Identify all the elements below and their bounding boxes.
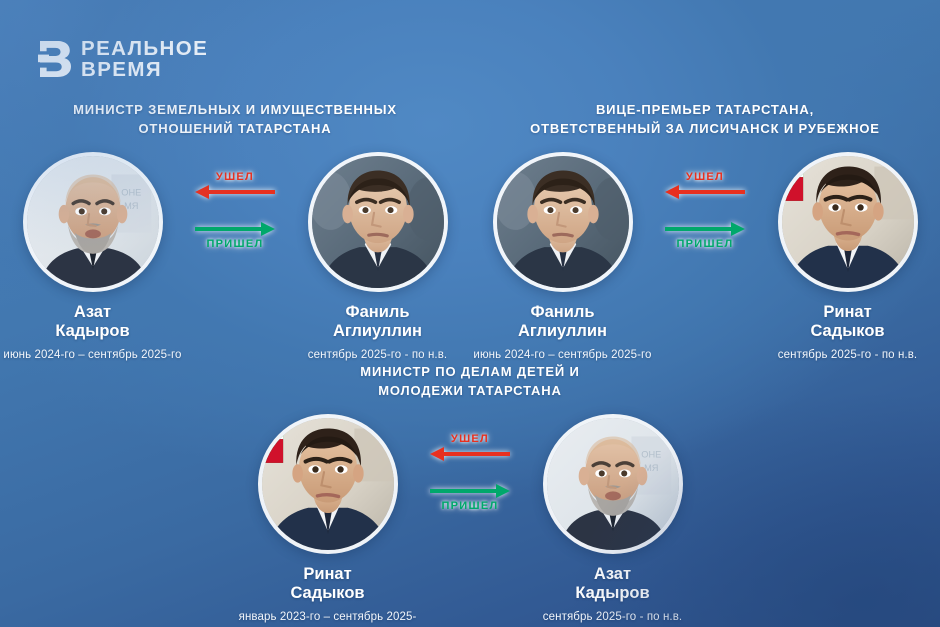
avatar (308, 152, 448, 292)
avatar-photo-fanil-agliullin (312, 156, 444, 288)
arrow-in-label: ПРИШЕЛ (441, 499, 498, 513)
person-name: Ринат Садыков (755, 303, 940, 341)
transition-arrows: УШЕЛ ПРИШЕЛ (185, 152, 285, 251)
person-term: сентябрь 2025-го - по н.в. (285, 348, 470, 362)
person-outgoing: ОНЕ МЯ (0, 152, 185, 362)
avatar-photo-azat-kadyrov: ОНЕ МЯ (27, 156, 159, 288)
arrow-right-icon (428, 483, 512, 499)
person-name: Азат Кадыров (520, 565, 705, 603)
arrow-out-label: УШЕЛ (451, 432, 489, 446)
section-children-youth-minister: МИНИСТР ПО ДЕЛАМ ДЕТЕЙ И МОЛОДЕЖИ ТАТАРС… (235, 362, 705, 627)
svg-text:ОНЕ: ОНЕ (641, 450, 661, 460)
arrow-out: УШЕЛ (193, 170, 277, 200)
person-term: январь 2023-го – сентябрь 2025-го (235, 610, 420, 627)
avatar-photo-azat-kadyrov: ОНЕ МЯ (547, 418, 679, 550)
section-title: ВИЦЕ-ПРЕМЬЕР ТАТАРСТАНА, ОТВЕТСТВЕННЫЙ З… (470, 100, 940, 138)
person-term: сентябрь 2025-го - по н.в. (755, 348, 940, 362)
arrow-in-label: ПРИШЕЛ (206, 237, 263, 251)
section-title: МИНИСТР ПО ДЕЛАМ ДЕТЕЙ И МОЛОДЕЖИ ТАТАРС… (235, 362, 705, 400)
arrow-out: УШЕЛ (663, 170, 747, 200)
person-incoming: ОНЕ МЯ (520, 414, 705, 624)
avatar-photo-rinat-sadykov (262, 418, 394, 550)
arrow-in: ПРИШЕЛ (193, 221, 277, 251)
arrow-left-icon (193, 184, 277, 200)
person-term: июнь 2024-го – сентябрь 2025-го (470, 348, 655, 362)
arrow-out-label: УШЕЛ (686, 170, 724, 184)
transition-arrows: УШЕЛ ПРИШЕЛ (655, 152, 755, 251)
person-incoming: Ринат Садыков сентябрь 2025-го - по н.в. (755, 152, 940, 362)
infographic-canvas: РЕАЛЬНОЕ ВРЕМЯ МИНИСТР ЗЕМЕЛЬНЫХ И ИМУЩЕ… (0, 0, 940, 627)
arrow-out: УШЕЛ (428, 432, 512, 462)
avatar: ОНЕ МЯ (23, 152, 163, 292)
person-name: Фаниль Аглиуллин (470, 303, 655, 341)
arrow-in-label: ПРИШЕЛ (676, 237, 733, 251)
section-vice-premier-lisichansk: ВИЦЕ-ПРЕМЬЕР ТАТАРСТАНА, ОТВЕТСТВЕННЫЙ З… (470, 100, 940, 362)
svg-text:ОНЕ: ОНЕ (121, 188, 141, 198)
person-name: Ринат Садыков (235, 565, 420, 603)
avatar-photo-rinat-sadykov (782, 156, 914, 288)
person-term: сентябрь 2025-го - по н.в. (520, 610, 705, 624)
person-outgoing: Фаниль Аглиуллин июнь 2024-го – сентябрь… (470, 152, 655, 362)
avatar (258, 414, 398, 554)
brand-logo: РЕАЛЬНОЕ ВРЕМЯ (38, 38, 208, 80)
arrow-in: ПРИШЕЛ (428, 483, 512, 513)
arrow-out-label: УШЕЛ (216, 170, 254, 184)
realnoe-vremya-b-mark-icon (38, 39, 72, 79)
person-name: Азат Кадыров (0, 303, 185, 341)
transition-pair: ОНЕ МЯ (0, 152, 470, 362)
person-incoming: Фаниль Аглиуллин сентябрь 2025-го - по н… (285, 152, 470, 362)
person-name: Фаниль Аглиуллин (285, 303, 470, 341)
brand-name: РЕАЛЬНОЕ ВРЕМЯ (81, 38, 208, 80)
avatar (778, 152, 918, 292)
transition-arrows: УШЕЛ ПРИШЕЛ (420, 414, 520, 513)
avatar (493, 152, 633, 292)
avatar: ОНЕ МЯ (543, 414, 683, 554)
arrow-left-icon (663, 184, 747, 200)
arrow-right-icon (663, 221, 747, 237)
section-land-property-minister: МИНИСТР ЗЕМЕЛЬНЫХ И ИМУЩЕСТВЕННЫХ ОТНОШЕ… (0, 100, 470, 362)
avatar-photo-fanil-agliullin (497, 156, 629, 288)
arrow-left-icon (428, 446, 512, 462)
person-term: июнь 2024-го – сентябрь 2025-го (0, 348, 185, 362)
transition-pair: Фаниль Аглиуллин июнь 2024-го – сентябрь… (470, 152, 940, 362)
section-title: МИНИСТР ЗЕМЕЛЬНЫХ И ИМУЩЕСТВЕННЫХ ОТНОШЕ… (0, 100, 470, 138)
person-outgoing: Ринат Садыков январь 2023-го – сентябрь … (235, 414, 420, 627)
arrow-right-icon (193, 221, 277, 237)
transition-pair: Ринат Садыков январь 2023-го – сентябрь … (235, 414, 705, 627)
arrow-in: ПРИШЕЛ (663, 221, 747, 251)
